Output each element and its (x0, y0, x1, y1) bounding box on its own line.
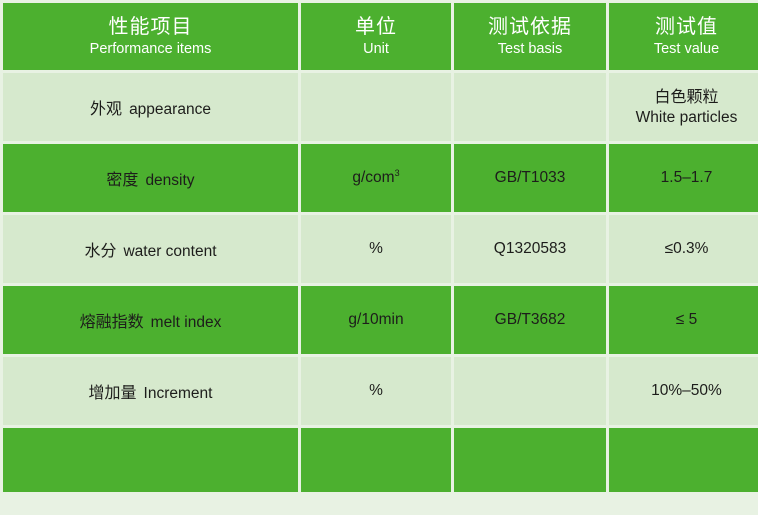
item-label-cn: 外观 (90, 101, 122, 118)
table-row: 密度density g/com3 GB/T1033 1.5–1.7 (3, 144, 758, 212)
header-cell-test-value: 测试值 Test value (609, 3, 758, 70)
header-label-en: Test basis (454, 40, 606, 58)
cell-unit: % (301, 357, 451, 425)
basis-value: Q1320583 (494, 240, 566, 257)
cell-performance-item: 熔融指数melt index (3, 286, 298, 354)
cell-test-value: ≤ 5 (609, 286, 758, 354)
item-label-en: appearance (129, 101, 211, 118)
table-row: 水分water content % Q1320583 ≤0.3% (3, 215, 758, 283)
table-row (3, 428, 758, 492)
header-cell-test-basis: 测试依据 Test basis (454, 3, 606, 70)
cell-performance-item: 密度density (3, 144, 298, 212)
cell-test-basis (454, 357, 606, 425)
cell-test-basis (454, 73, 606, 141)
item-label-en: melt index (151, 314, 222, 331)
value-text: ≤0.3% (665, 240, 709, 257)
header-label-cn: 单位 (301, 15, 451, 39)
cell-test-basis (454, 428, 606, 492)
value-line-cn: 白色颗粒 (609, 87, 758, 108)
cell-test-basis: GB/T3682 (454, 286, 606, 354)
header-label-cn: 测试值 (609, 15, 758, 39)
cell-unit: % (301, 215, 451, 283)
cell-unit: g/10min (301, 286, 451, 354)
unit-value: g/10min (348, 311, 403, 328)
item-label-cn: 水分 (84, 243, 116, 260)
cell-test-value: 白色颗粒 White particles (609, 73, 758, 141)
header-label-cn: 性能项目 (3, 15, 298, 39)
cell-test-basis: Q1320583 (454, 215, 606, 283)
table-row: 熔融指数melt index g/10min GB/T3682 ≤ 5 (3, 286, 758, 354)
unit-value: % (369, 240, 383, 257)
cell-performance-item: 增加量Increment (3, 357, 298, 425)
cell-performance-item: 外观appearance (3, 73, 298, 141)
basis-value: GB/T3682 (495, 311, 566, 328)
unit-exponent: 3 (395, 168, 400, 178)
table-row: 增加量Increment % 10%–50% (3, 357, 758, 425)
item-label-cn: 增加量 (89, 385, 137, 402)
table-row: 外观appearance 白色颗粒 White particles (3, 73, 758, 141)
cell-test-basis: GB/T1033 (454, 144, 606, 212)
table-header-row: 性能项目 Performance items 单位 Unit 测试依据 Test… (3, 3, 758, 70)
cell-performance-item (3, 428, 298, 492)
header-label-cn: 测试依据 (454, 15, 606, 39)
cell-unit (301, 73, 451, 141)
cell-test-value (609, 428, 758, 492)
item-label-cn: 密度 (106, 172, 138, 189)
value-text: 1.5–1.7 (661, 169, 713, 186)
cell-test-value: ≤0.3% (609, 215, 758, 283)
cell-unit (301, 428, 451, 492)
cell-unit: g/com3 (301, 144, 451, 212)
cell-performance-item: 水分water content (3, 215, 298, 283)
header-label-en: Test value (609, 40, 758, 58)
header-cell-unit: 单位 Unit (301, 3, 451, 70)
specification-table: 性能项目 Performance items 单位 Unit 测试依据 Test… (0, 0, 758, 495)
cell-test-value: 1.5–1.7 (609, 144, 758, 212)
unit-value: % (369, 382, 383, 399)
basis-value: GB/T1033 (495, 169, 566, 186)
header-label-en: Performance items (3, 40, 298, 58)
item-label-en: density (145, 172, 194, 189)
item-label-cn: 熔融指数 (80, 314, 144, 331)
value-text: ≤ 5 (676, 311, 697, 328)
value-line-en: White particles (609, 108, 758, 128)
header-cell-performance-items: 性能项目 Performance items (3, 3, 298, 70)
value-text: 10%–50% (651, 382, 722, 399)
item-label-en: water content (123, 243, 216, 260)
header-label-en: Unit (301, 40, 451, 58)
cell-test-value: 10%–50% (609, 357, 758, 425)
item-label-en: Increment (144, 385, 213, 402)
unit-value: g/com (352, 170, 394, 187)
